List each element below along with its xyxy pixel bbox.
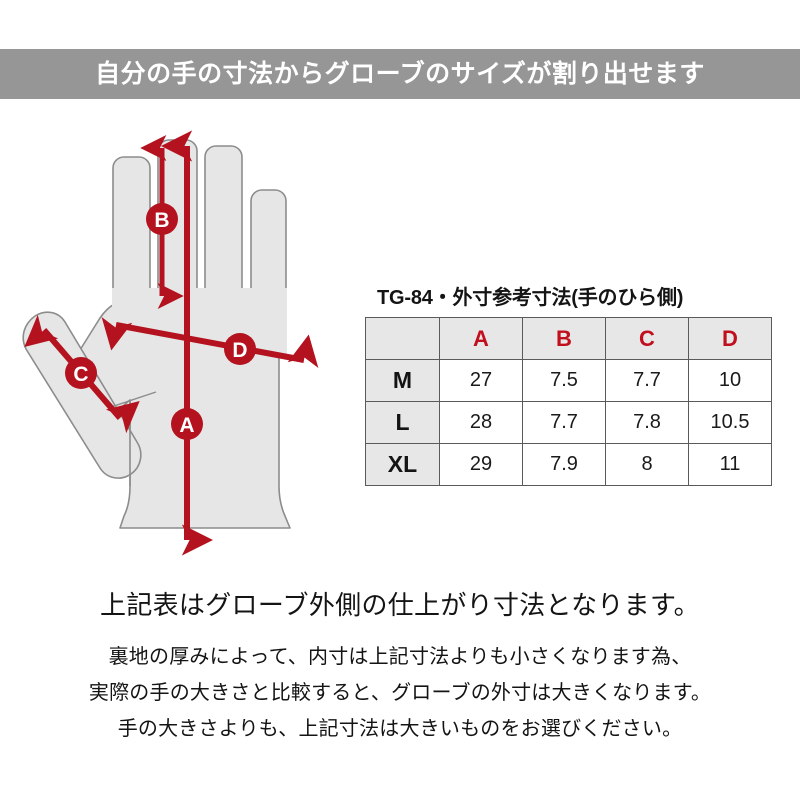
- cell-xl-c: 8: [606, 444, 689, 486]
- column-header-d: D: [689, 318, 772, 360]
- cell-m-a: 27: [440, 360, 523, 402]
- marker-badge-a: A: [171, 408, 203, 440]
- cell-xl-a: 29: [440, 444, 523, 486]
- footer-note-line-1: 裏地の厚みによって、内寸は上記寸法よりも小さくなります為、: [0, 639, 800, 675]
- column-header-c: C: [606, 318, 689, 360]
- cell-l-a: 28: [440, 402, 523, 444]
- page-title: 自分の手の寸法からグローブのサイズが割り出せます: [95, 62, 705, 87]
- cell-l-c: 7.8: [606, 402, 689, 444]
- column-header-b: B: [523, 318, 606, 360]
- table-row: XL 29 7.9 8 11: [366, 444, 772, 486]
- table-corner-cell: [366, 318, 440, 360]
- cell-m-b: 7.5: [523, 360, 606, 402]
- cell-l-d: 10.5: [689, 402, 772, 444]
- cell-m-d: 10: [689, 360, 772, 402]
- footer-notes: 上記表はグローブ外側の仕上がり寸法となります。 裏地の厚みによって、内寸は上記寸…: [0, 588, 800, 747]
- marker-badge-b: B: [146, 203, 178, 235]
- cell-l-b: 7.7: [523, 402, 606, 444]
- footer-note-line-3: 手の大きさよりも、上記寸法は大きいものをお選びください。: [0, 711, 800, 747]
- size-table-block: TG-84・外寸参考寸法(手のひら側) A B C D: [365, 281, 771, 486]
- footer-sub-lines: 裏地の厚みによって、内寸は上記寸法よりも小さくなります為、 実際の手の大きさと比…: [0, 639, 800, 747]
- marker-badge-c: C: [65, 357, 97, 389]
- page-root: 自分の手の寸法からグローブのサイズが割り出せます: [0, 0, 800, 800]
- footer-lead-text: 上記表はグローブ外側の仕上がり寸法となります。: [0, 588, 800, 622]
- marker-label-d: D: [232, 339, 247, 362]
- cell-xl-d: 11: [689, 444, 772, 486]
- marker-label-b: B: [154, 209, 169, 232]
- table-header-row: A B C D: [366, 318, 772, 360]
- row-header-xl: XL: [366, 444, 440, 486]
- size-table-title: TG-84・外寸参考寸法(手のひら側): [377, 281, 771, 310]
- header-banner: 自分の手の寸法からグローブのサイズが割り出せます: [0, 49, 800, 99]
- row-header-m: M: [366, 360, 440, 402]
- marker-label-c: C: [73, 363, 88, 386]
- table-row: L 28 7.7 7.8 10.5: [366, 402, 772, 444]
- size-table: A B C D M 27 7.5 7.7 10 L 28 7.7: [365, 317, 772, 486]
- marker-badge-d: D: [224, 333, 256, 365]
- marker-label-a: A: [179, 414, 194, 437]
- footer-note-line-2: 実際の手の大きさと比較すると、グローブの外寸は大きくなります。: [0, 675, 800, 711]
- column-header-a: A: [440, 318, 523, 360]
- table-row: M 27 7.5 7.7 10: [366, 360, 772, 402]
- cell-m-c: 7.7: [606, 360, 689, 402]
- row-header-l: L: [366, 402, 440, 444]
- hand-measurement-diagram: B A C D: [8, 118, 358, 568]
- cell-xl-b: 7.9: [523, 444, 606, 486]
